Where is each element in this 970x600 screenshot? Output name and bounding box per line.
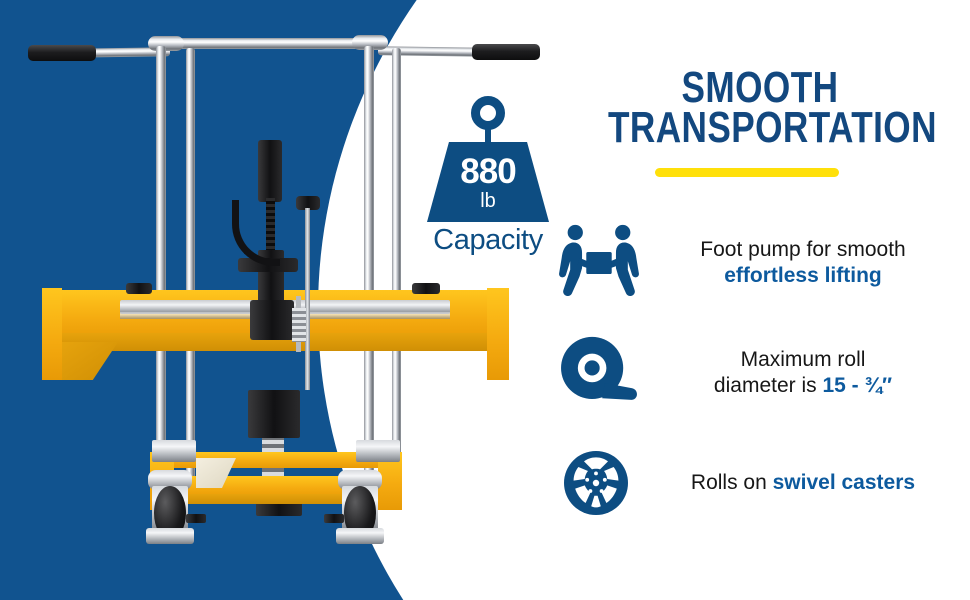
swivel-caster-left bbox=[140, 470, 204, 550]
feature-text-line-2-bold: 15 - ¾″ bbox=[822, 374, 892, 397]
feature-text-line-1: Maximum roll bbox=[650, 347, 956, 373]
headline-underline-rule bbox=[655, 168, 839, 177]
capacity-badge: 880 lb Capacity bbox=[418, 96, 558, 257]
feature-text-swivel-casters: Rolls on swivel casters bbox=[642, 470, 956, 496]
feature-text-foot-pump: Foot pump for smooth effortless lifting bbox=[642, 237, 956, 290]
tape-roll-icon bbox=[556, 330, 642, 416]
weight-icon: 880 lb bbox=[418, 96, 558, 222]
feature-row-foot-pump: Foot pump for smooth effortless lifting bbox=[556, 220, 956, 306]
handle-grip-left bbox=[28, 45, 96, 61]
feature-text-line-2-bold: effortless lifting bbox=[724, 264, 882, 287]
feature-row-swivel-casters: Rolls on swivel casters bbox=[556, 440, 956, 526]
feature-text-roll-diameter: Maximum roll diameter is 15 - ¾″ bbox=[642, 347, 956, 400]
swivel-caster-right bbox=[330, 470, 394, 550]
feature-row-roll-diameter: Maximum roll diameter is 15 - ¾″ bbox=[556, 330, 956, 416]
caster-wheel-icon bbox=[556, 440, 642, 526]
infographic-canvas: 880 lb Capacity SMOOTH TRANSPORTATION bbox=[0, 0, 970, 600]
headline-line-1: SMOOTH bbox=[608, 68, 912, 108]
feature-text-line-1-bold: swivel casters bbox=[773, 471, 915, 494]
capacity-value: 880 bbox=[460, 154, 515, 189]
feature-text-line-1: Foot pump for smooth bbox=[650, 237, 956, 263]
handle-grip-right bbox=[472, 44, 540, 60]
headline: SMOOTH TRANSPORTATION bbox=[570, 68, 950, 149]
roll-lifter-product-photo bbox=[0, 0, 560, 600]
two-people-carrying-box-icon bbox=[556, 220, 642, 306]
capacity-unit: lb bbox=[480, 191, 496, 211]
headline-line-2: TRANSPORTATION bbox=[608, 108, 912, 148]
feature-text-line-1-prefix: Rolls on bbox=[691, 471, 773, 494]
capacity-label: Capacity bbox=[418, 224, 558, 257]
feature-text-line-2-prefix: diameter is bbox=[714, 374, 823, 397]
